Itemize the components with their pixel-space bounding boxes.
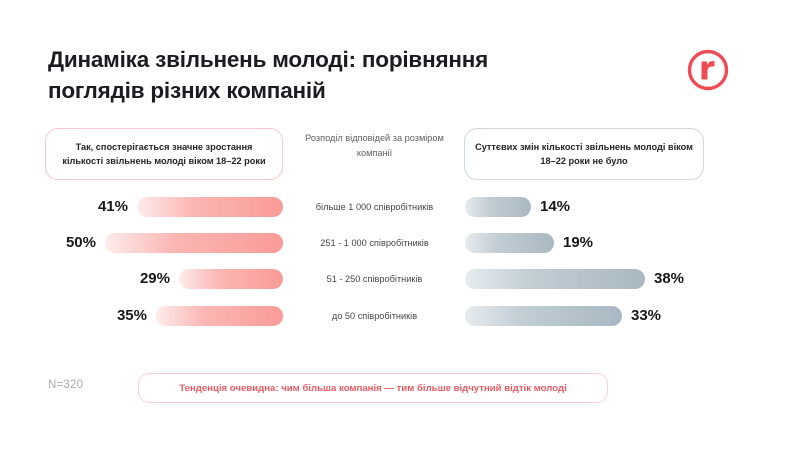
slide-canvas: Динаміка звільнень молоді: порівняння по… xyxy=(0,0,800,450)
left-bar xyxy=(137,197,283,217)
left-bar-track: 41% xyxy=(45,194,283,220)
right-bar xyxy=(465,197,531,217)
conclusion-label: Тенденція очевидна: чим більша компанія … xyxy=(179,383,567,394)
r-logo-icon xyxy=(686,48,730,92)
legend-pill-left: Так, спостерігається значне зростання кі… xyxy=(45,128,283,180)
left-bar xyxy=(156,306,283,326)
right-bar xyxy=(465,306,622,326)
right-bar-track: 33% xyxy=(465,303,703,329)
category-label: 251 - 1 000 співробітників xyxy=(292,235,457,251)
left-bar-track: 29% xyxy=(45,266,283,292)
chart-subtitle: Розподіл відповідей за розміром компанії xyxy=(292,131,457,160)
left-bar-value: 29% xyxy=(110,268,170,290)
left-bar-track: 50% xyxy=(45,230,283,256)
left-bar-track: 35% xyxy=(45,303,283,329)
right-bar-value: 33% xyxy=(631,305,661,327)
legend-pill-right: Суттєвих змін кількості звільнень молоді… xyxy=(464,128,704,180)
page-title: Динаміка звільнень молоді: порівняння по… xyxy=(48,44,608,106)
right-bar-track: 14% xyxy=(465,194,703,220)
legend-pill-left-label: Так, спостерігається значне зростання кі… xyxy=(56,140,272,169)
left-bar-value: 35% xyxy=(87,305,147,327)
legend-pill-right-label: Суттєвих змін кількості звільнень молоді… xyxy=(475,140,693,169)
chart-row: 29% 51 - 250 співробітників 38% xyxy=(0,266,800,292)
left-bar-value: 41% xyxy=(68,196,128,218)
chart-row: 41% більше 1 000 співробітників 14% xyxy=(0,194,800,220)
chart-row: 35% до 50 співробітників 33% xyxy=(0,303,800,329)
left-bar-value: 50% xyxy=(36,232,96,254)
right-bar-track: 19% xyxy=(465,230,703,256)
right-bar xyxy=(465,233,554,253)
category-label: більше 1 000 співробітників xyxy=(292,199,457,215)
category-label: 51 - 250 співробітників xyxy=(292,271,457,287)
conclusion-pill: Тенденція очевидна: чим більша компанія … xyxy=(138,373,608,403)
chart-row: 50% 251 - 1 000 співробітників 19% xyxy=(0,230,800,256)
right-bar-track: 38% xyxy=(465,266,703,292)
right-bar xyxy=(465,269,645,289)
left-bar xyxy=(105,233,283,253)
diverging-bar-chart: 41% більше 1 000 співробітників 14% 50% … xyxy=(0,190,800,335)
right-bar-value: 14% xyxy=(540,196,570,218)
title-line-2: поглядів різних компаній xyxy=(48,75,608,106)
left-bar xyxy=(179,269,283,289)
right-bar-value: 38% xyxy=(654,268,684,290)
title-line-1: Динаміка звільнень молоді: порівняння xyxy=(48,44,608,75)
category-label: до 50 співробітників xyxy=(292,308,457,324)
sample-size-label: N=320 xyxy=(48,379,83,391)
chart-subtitle-label: Розподіл відповідей за розміром компанії xyxy=(305,133,444,158)
right-bar-value: 19% xyxy=(563,232,593,254)
